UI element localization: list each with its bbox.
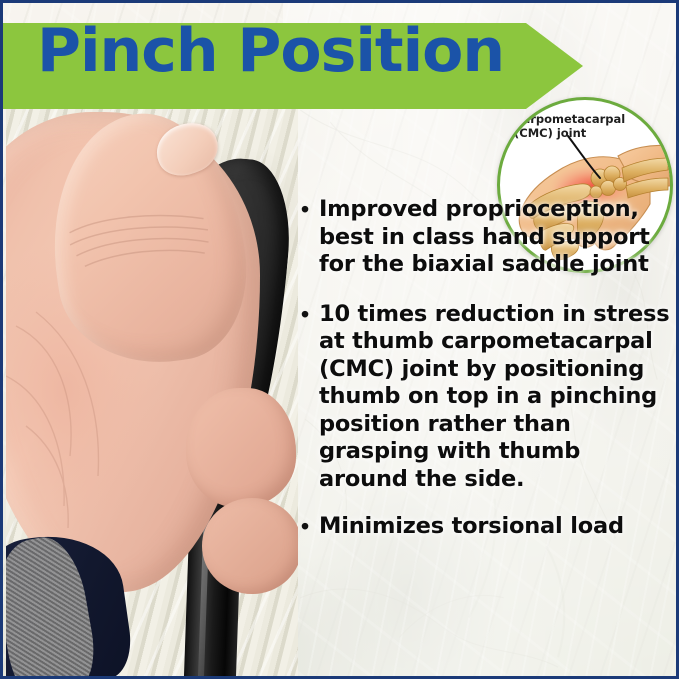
bullet-text: Improved proprioception, best in class h…: [319, 196, 675, 279]
bullet-text: Minimizes torsional load: [319, 513, 675, 541]
hand-knuckle-upper: [186, 388, 296, 508]
anatomy-label-line1: Carpometacarpal: [514, 112, 644, 126]
list-item: • Minimizes torsional load: [301, 513, 675, 541]
list-item: • 10 times reduction in stress at thumb …: [301, 301, 675, 494]
list-item: • Improved proprioception, best in class…: [301, 196, 675, 279]
bullet-marker: •: [301, 196, 319, 223]
bullet-marker: •: [301, 301, 319, 328]
bullet-text: 10 times reduction in stress at thumb ca…: [319, 301, 675, 494]
hand-knuckle-lower: [202, 498, 298, 594]
product-photo: [6, 106, 298, 679]
anatomy-label: Carpometacarpal (CMC) joint: [514, 112, 644, 140]
infographic-poster: Pinch Position: [0, 0, 679, 679]
palm-creases: [6, 306, 186, 536]
anatomy-label-line2: (CMC) joint: [514, 126, 644, 140]
benefits-list: • Improved proprioception, best in class…: [301, 196, 675, 559]
bullet-marker: •: [301, 513, 319, 540]
page-title: Pinch Position: [37, 21, 504, 81]
